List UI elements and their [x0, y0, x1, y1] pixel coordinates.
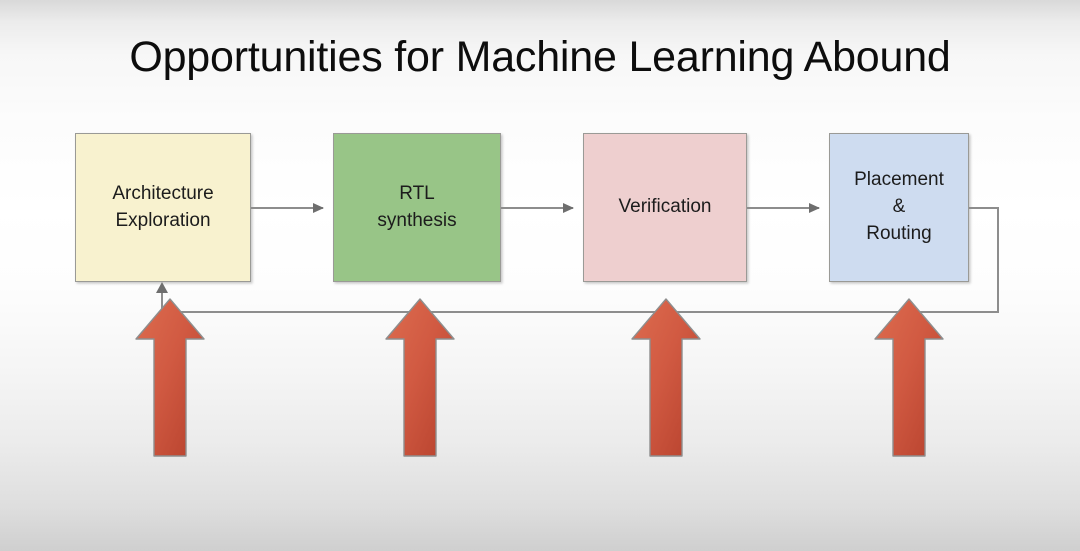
ml-opportunity-arrow-verification-icon	[630, 297, 702, 458]
arrowhead-icon	[313, 203, 324, 213]
ml-opportunity-arrow-architecture-icon	[134, 297, 206, 458]
page-title: Opportunities for Machine Learning Aboun…	[0, 36, 1080, 79]
arrowhead-icon	[563, 203, 574, 213]
connector-verification-to-placement-icon	[747, 207, 819, 209]
flow-box-label: Architecture Exploration	[106, 181, 219, 235]
connector-arch-to-rtl-icon	[251, 207, 323, 209]
flow-box-placement-and-routing[interactable]: Placement & Routing	[829, 133, 969, 282]
ml-opportunity-arrow-placement-icon	[873, 297, 945, 458]
flow-box-architecture-exploration[interactable]: Architecture Exploration	[75, 133, 251, 282]
slide-canvas: Opportunities for Machine Learning Aboun…	[0, 0, 1080, 551]
flow-box-rtl-synthesis[interactable]: RTL synthesis	[333, 133, 501, 282]
feedback-loop-segment-right-icon	[997, 207, 999, 313]
flow-box-label: Placement & Routing	[848, 167, 950, 248]
arrowhead-icon	[809, 203, 820, 213]
connector-rtl-to-verification-icon	[501, 207, 573, 209]
flow-box-label: RTL synthesis	[371, 181, 462, 235]
feedback-loop-arrowhead-icon	[156, 282, 168, 293]
flow-box-verification[interactable]: Verification	[583, 133, 747, 282]
ml-opportunity-arrow-rtl-icon	[384, 297, 456, 458]
feedback-loop-segment-top-icon	[969, 207, 999, 209]
flow-box-label: Verification	[613, 194, 718, 221]
